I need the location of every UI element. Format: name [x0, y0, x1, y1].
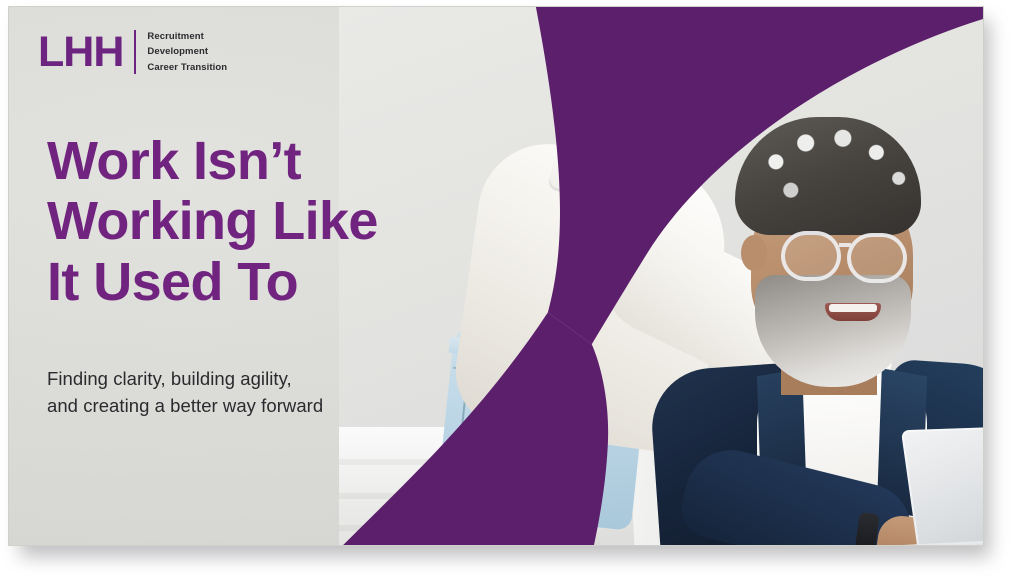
lhh-wordmark: LHH — [38, 31, 123, 74]
presentation-slide: LHH Recruitment Development Career Trans… — [8, 6, 984, 546]
headline-line-3: It Used To — [47, 252, 427, 312]
slide-headline: Work Isn’t Working Like It Used To — [47, 131, 427, 312]
tagline-line-career-transition: Career Transition — [147, 61, 227, 74]
slide-subhead: Finding clarity, building agility, and c… — [47, 366, 437, 420]
subhead-line-1: Finding clarity, building agility, — [47, 366, 437, 393]
man-eyeglasses-left-lens — [781, 231, 841, 281]
lhh-tagline: Recruitment Development Career Transitio… — [147, 30, 227, 74]
man-eyeglasses-right-lens — [847, 233, 907, 283]
logo-divider-rule — [134, 30, 136, 74]
person-seated-man — [639, 127, 984, 546]
screenshot-canvas: LHH Recruitment Development Career Trans… — [0, 0, 1024, 576]
man-teeth — [829, 304, 877, 312]
headline-line-1: Work Isn’t — [47, 131, 427, 191]
headline-line-2: Working Like — [47, 191, 427, 251]
subhead-line-2: and creating a better way forward — [47, 393, 437, 420]
slide-text-panel: LHH Recruitment Development Career Trans… — [9, 7, 429, 546]
hero-photograph — [339, 7, 984, 546]
tagline-line-development: Development — [147, 45, 227, 58]
tagline-line-recruitment: Recruitment — [147, 30, 227, 43]
lhh-logo: LHH Recruitment Development Career Trans… — [38, 30, 227, 74]
man-eyeglasses-bridge — [839, 243, 851, 247]
man-ear — [741, 235, 767, 271]
woman-earring — [576, 93, 589, 106]
man-hair — [735, 117, 921, 235]
